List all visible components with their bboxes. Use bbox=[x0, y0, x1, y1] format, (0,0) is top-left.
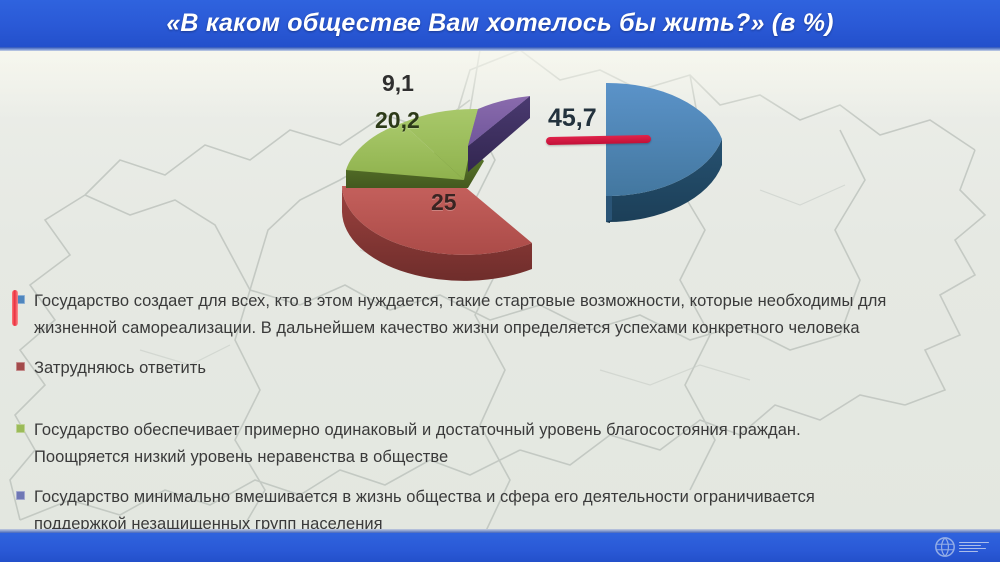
legend-item-1-text: Затрудняюсь ответить bbox=[34, 355, 206, 382]
pie-chart: 9,1 20,2 25 45,7 bbox=[318, 60, 726, 285]
legend-item-2-line1: Государство обеспечивает примерно одинак… bbox=[34, 417, 801, 444]
legend-item-2-line2: Поощряется низкий уровень неравенства в … bbox=[34, 444, 801, 471]
pie-label-blue: 45,7 bbox=[548, 104, 597, 133]
legend-bullet-icon bbox=[16, 362, 25, 371]
red-pen-annotation bbox=[12, 290, 18, 326]
legend-item-0-line2: жизненной самореализации. В дальнейшем к… bbox=[34, 315, 886, 342]
legend-item-0-line1: Государство создает для всех, кто в этом… bbox=[34, 288, 886, 315]
organization-logo bbox=[934, 534, 996, 560]
legend-item-0[interactable]: Государство создает для всех, кто в этом… bbox=[16, 288, 984, 342]
pie-label-red: 25 bbox=[431, 189, 457, 216]
legend-item-0-text: Государство создает для всех, кто в этом… bbox=[34, 288, 886, 342]
globe-emblem-icon bbox=[934, 536, 956, 558]
bottom-bar bbox=[0, 533, 1000, 562]
legend-item-3-line1: Государство минимально вмешивается в жиз… bbox=[34, 484, 815, 511]
chart-legend: Государство создает для всех, кто в этом… bbox=[16, 288, 984, 538]
legend-bullet-icon bbox=[16, 424, 25, 433]
title-bar-edge bbox=[0, 47, 1000, 51]
legend-item-2-text: Государство обеспечивает примерно одинак… bbox=[34, 417, 801, 471]
legend-item-1-line1: Затрудняюсь ответить bbox=[34, 355, 206, 382]
presentation-slide: «В каком обществе Вам хотелось бы жить?»… bbox=[0, 0, 1000, 562]
legend-bullet-icon bbox=[16, 491, 25, 500]
legend-item-2[interactable]: Государство обеспечивает примерно одинак… bbox=[16, 417, 984, 471]
legend-item-1[interactable]: Затрудняюсь ответить bbox=[16, 355, 984, 382]
pie-label-purple: 9,1 bbox=[382, 70, 414, 97]
page-title: «В каком обществе Вам хотелось бы жить?»… bbox=[0, 0, 1000, 47]
logo-text-lines bbox=[959, 542, 989, 553]
pie-label-green: 20,2 bbox=[375, 107, 420, 134]
